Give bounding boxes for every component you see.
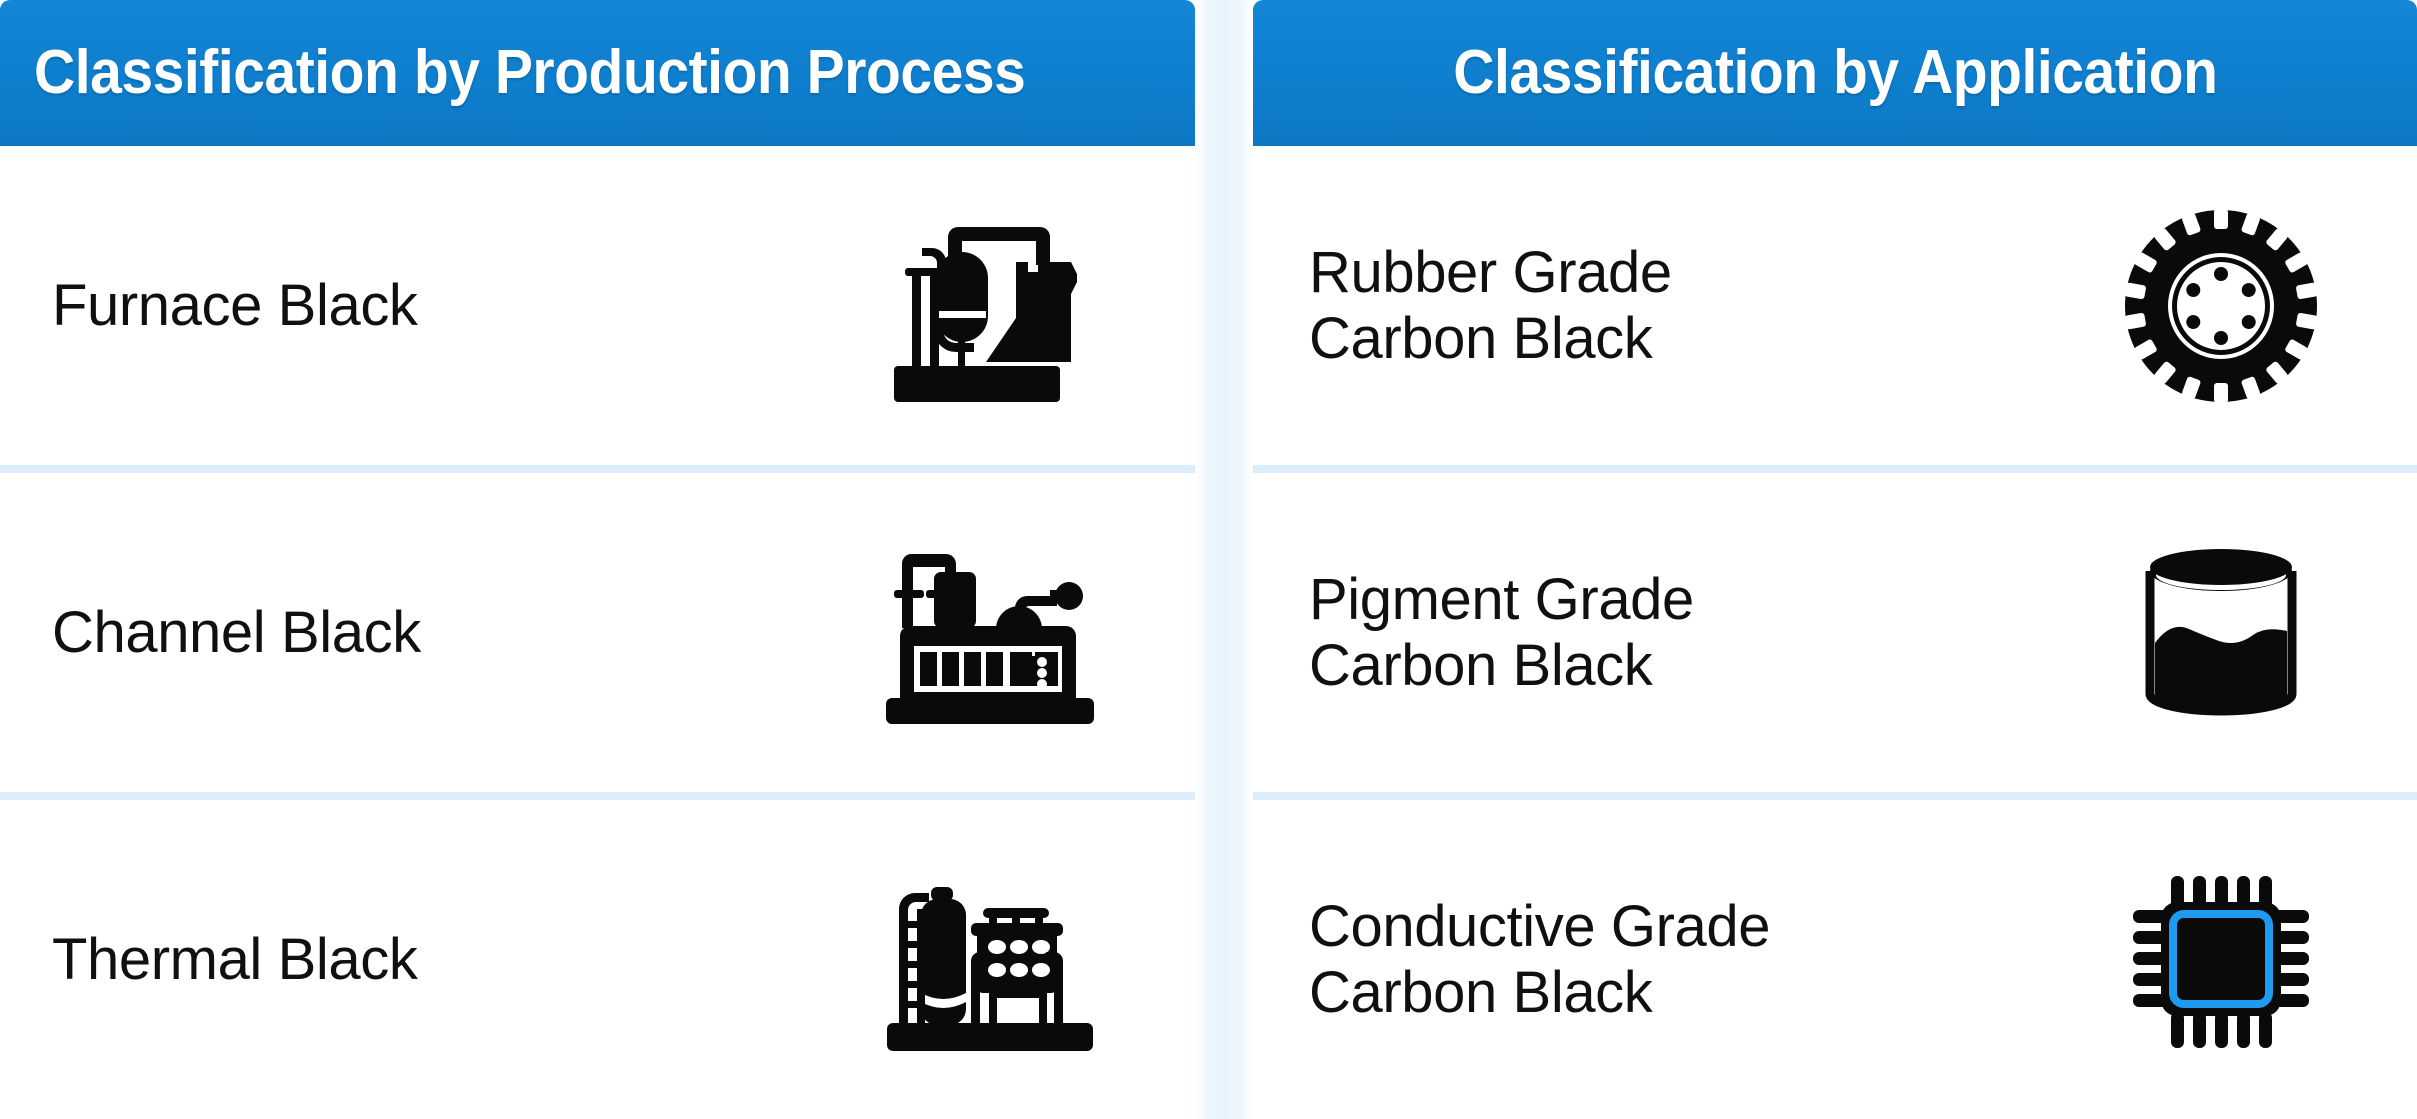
row-label-conductive-grade: Conductive Grade Carbon Black	[1253, 894, 2087, 1025]
classification-board: Classification by Production Process Fur…	[0, 0, 2417, 1119]
list-item[interactable]: Thermal Black	[0, 792, 1195, 1119]
microchip-icon	[2087, 860, 2417, 1060]
beaker-icon	[2087, 545, 2417, 721]
column-application: Classification by Application Rubber Gra…	[1253, 0, 2417, 1119]
column-divider	[1195, 0, 1253, 1119]
row-list-application: Rubber Grade Carbon Black	[1253, 146, 2417, 1119]
list-item[interactable]: Rubber Grade Carbon Black	[1253, 146, 2417, 465]
row-label-pigment-grade: Pigment Grade Carbon Black	[1253, 567, 2087, 698]
row-label-furnace-black: Furnace Black	[0, 273, 855, 339]
list-item[interactable]: Channel Black	[0, 465, 1195, 792]
list-item[interactable]: Furnace Black	[0, 146, 1195, 465]
row-label-channel-black: Channel Black	[0, 600, 855, 666]
column-header-title: Classification by Production Process	[34, 42, 1025, 104]
furnace-reactor-icon	[855, 206, 1195, 406]
tire-icon	[2087, 206, 2417, 406]
row-list-production-process: Furnace Black	[0, 146, 1195, 1119]
column-header-production-process: Classification by Production Process	[0, 0, 1195, 146]
list-item[interactable]: Conductive Grade Carbon Black	[1253, 792, 2417, 1119]
column-header-title: Classification by Application	[1453, 42, 2217, 104]
row-label-rubber-grade: Rubber Grade Carbon Black	[1253, 240, 2087, 371]
list-item[interactable]: Pigment Grade Carbon Black	[1253, 465, 2417, 792]
refinery-tower-icon	[855, 865, 1195, 1055]
column-production-process: Classification by Production Process Fur…	[0, 0, 1195, 1119]
row-label-thermal-black: Thermal Black	[0, 927, 855, 993]
factory-plant-icon	[855, 540, 1195, 726]
column-header-application: Classification by Application	[1253, 0, 2417, 146]
